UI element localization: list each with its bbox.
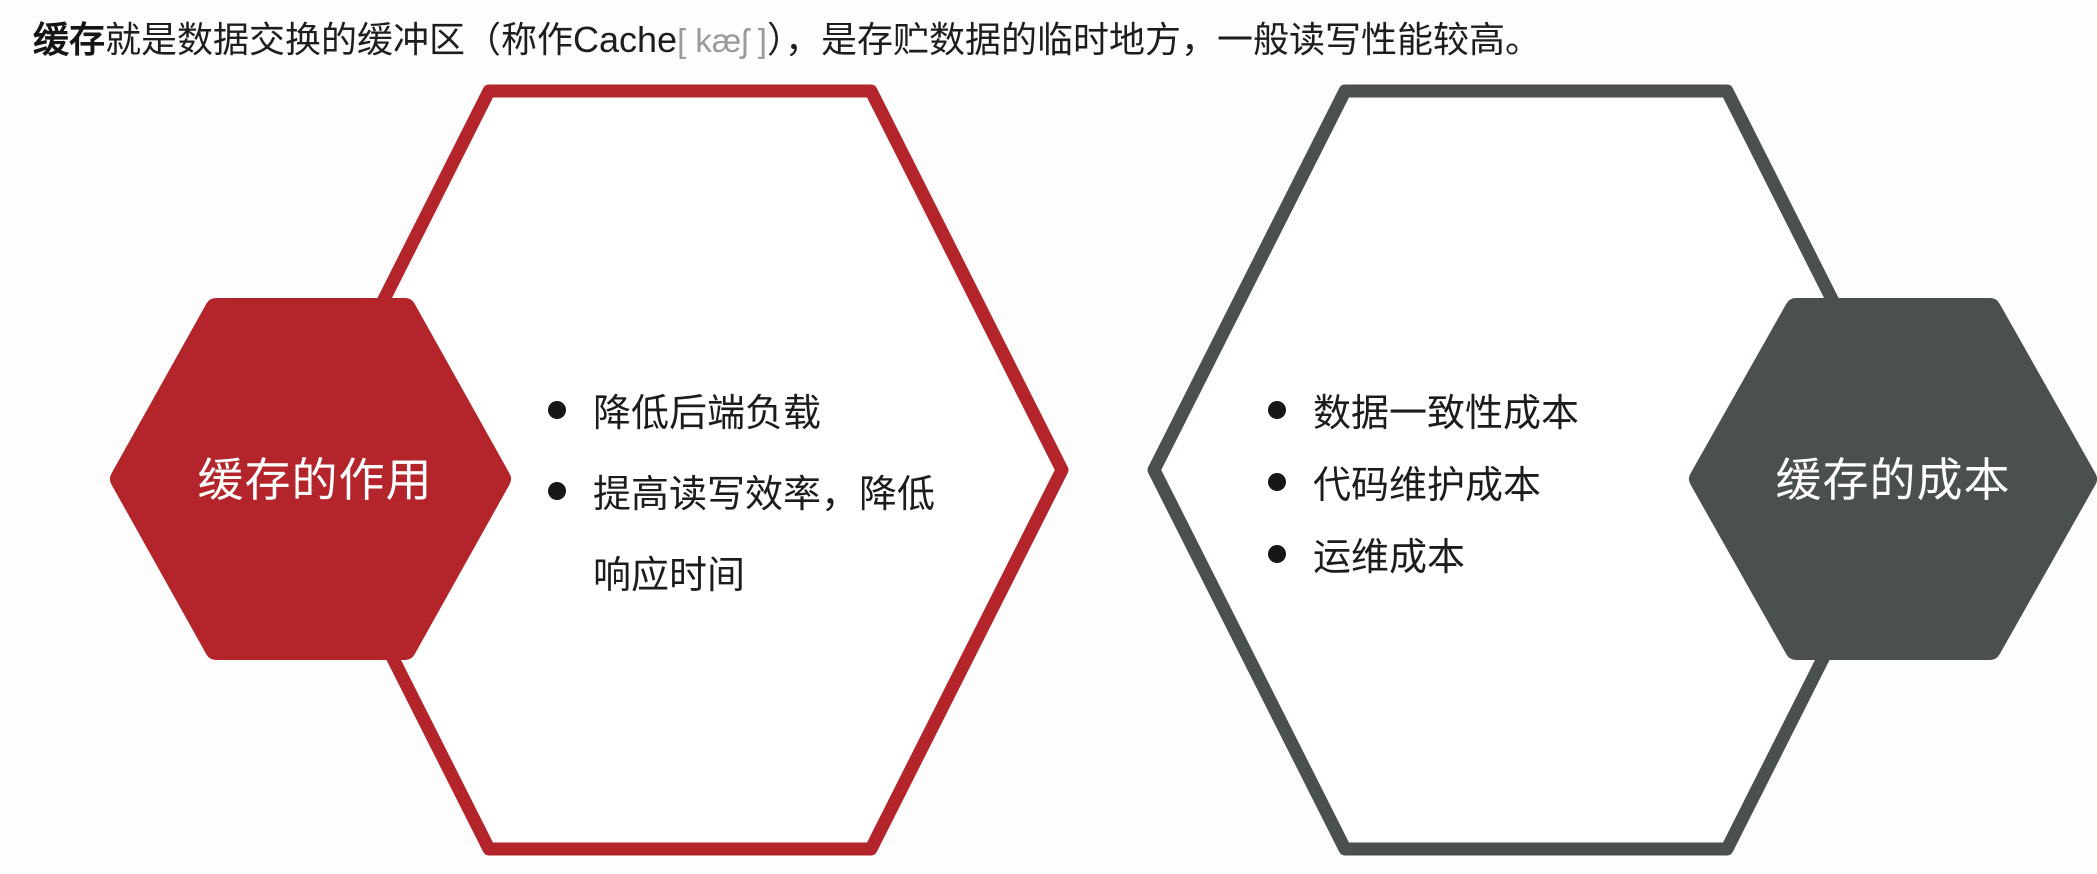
- bullet-dot-icon: [1268, 473, 1286, 491]
- bullet-dot-icon: [548, 482, 566, 500]
- list-item: 提高读写效率，降低: [548, 463, 1018, 518]
- list-item: 数据一致性成本: [1268, 382, 1738, 437]
- bullet-dot-icon: [548, 401, 566, 419]
- list-item: 运维成本: [1268, 526, 1738, 581]
- slide-canvas: 缓存就是数据交换的缓冲区（称作Cache[ kæʃ ]），是存贮数据的临时地方，…: [0, 0, 2097, 874]
- list-item-label: 数据一致性成本: [1313, 382, 1579, 437]
- list-item-label: 运维成本: [1313, 526, 1465, 581]
- bullet-dot-icon: [1268, 545, 1286, 563]
- badge-label-benefits: 缓存的作用: [90, 455, 540, 505]
- list-item-label: 提高读写效率，降低: [593, 463, 935, 518]
- list-item-label: 响应时间: [593, 544, 745, 599]
- bullet-dot-icon: [1268, 401, 1286, 419]
- bullet-list-benefits: 降低后端负载 提高读写效率，降低 响应时间: [548, 382, 1018, 599]
- list-item: 代码维护成本: [1268, 454, 1738, 509]
- hexagon-diagram: [0, 0, 2097, 874]
- list-item-continuation: 响应时间: [593, 544, 1018, 599]
- list-item: 降低后端负载: [548, 382, 1018, 437]
- list-item-label: 降低后端负载: [593, 382, 821, 437]
- list-item-label: 代码维护成本: [1313, 454, 1541, 509]
- bullet-list-costs: 数据一致性成本 代码维护成本 运维成本: [1268, 382, 1738, 581]
